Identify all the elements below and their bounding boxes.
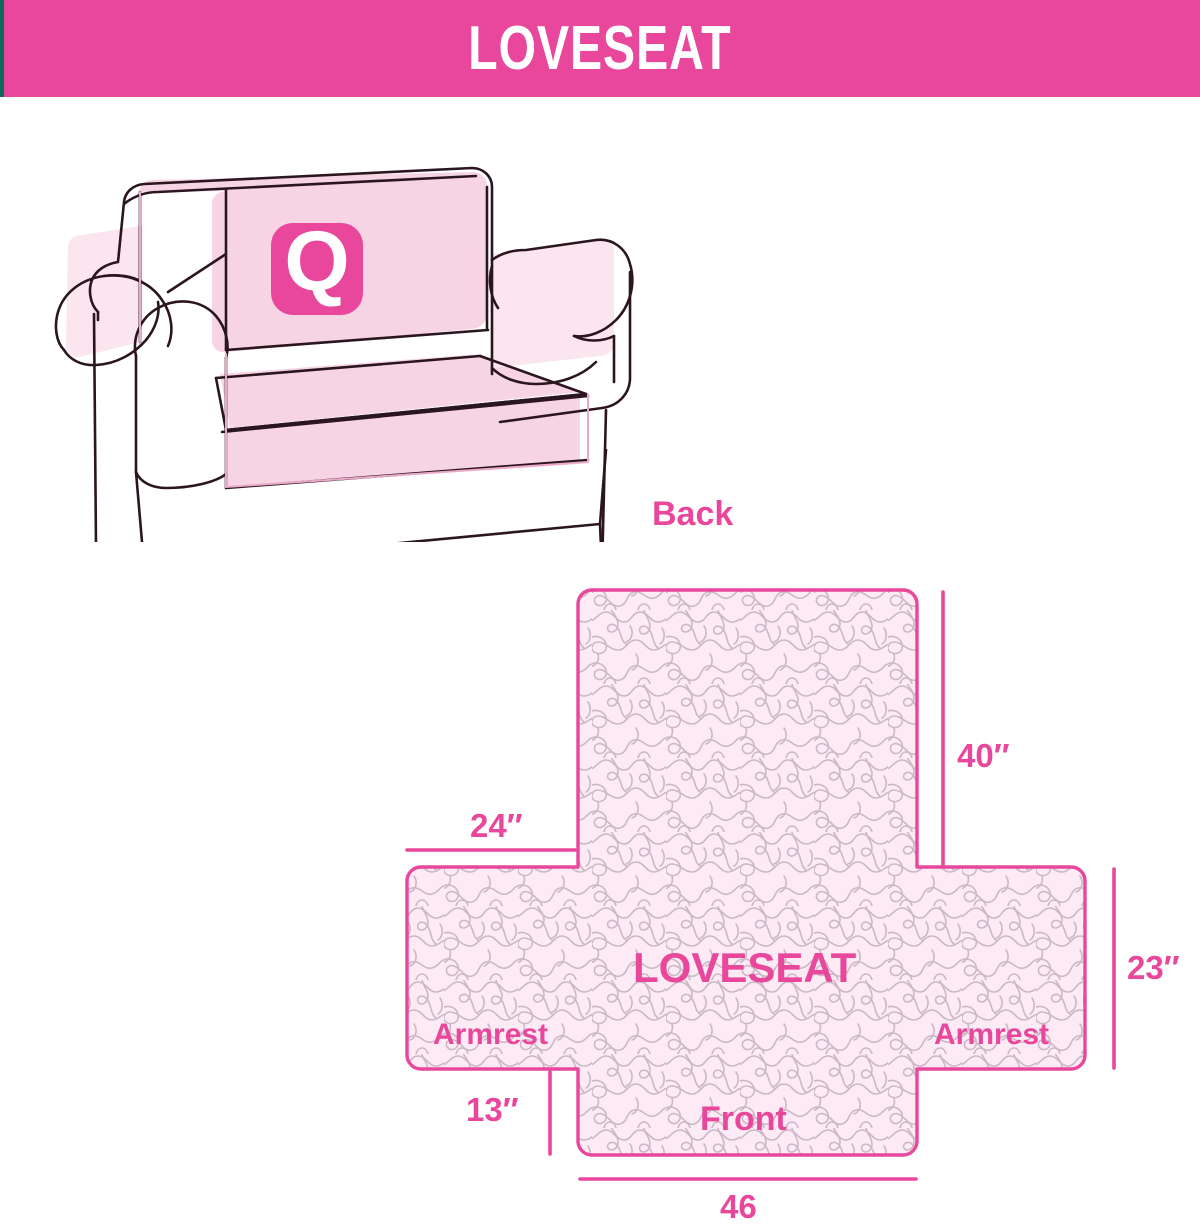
panel-label-armrest-left: Armrest xyxy=(433,1020,548,1050)
header-banner: LOVESEAT xyxy=(0,0,1200,97)
q-logo-badge: Q xyxy=(271,214,363,315)
page-title: LOVESEAT xyxy=(468,18,731,80)
cover-dimension-diagram: Back Armrest LOVESEAT Armrest Front 40″ … xyxy=(370,462,1200,1202)
dimension-label-front-drop: 13″ xyxy=(466,1093,519,1126)
dimension-label-seat-depth: 23″ xyxy=(1127,951,1180,984)
q-logo-letter: Q xyxy=(284,214,349,308)
panel-label-center: LOVESEAT xyxy=(633,947,856,989)
left-arm-outer-fill xyxy=(66,226,140,357)
content-stage: Q xyxy=(0,97,1200,1200)
cover-outline-path xyxy=(407,590,1085,1155)
panel-label-front: Front xyxy=(700,1102,787,1136)
panel-label-armrest-right: Armrest xyxy=(934,1020,1049,1050)
header-accent-edge xyxy=(0,0,4,97)
dimension-label-armrest-span: 24″ xyxy=(470,809,523,842)
dimension-label-total-width: 46 xyxy=(720,1190,757,1223)
dimension-label-back-height: 40″ xyxy=(957,739,1010,772)
panel-label-back: Back xyxy=(652,497,733,531)
right-arm-outer-fill xyxy=(492,240,614,368)
